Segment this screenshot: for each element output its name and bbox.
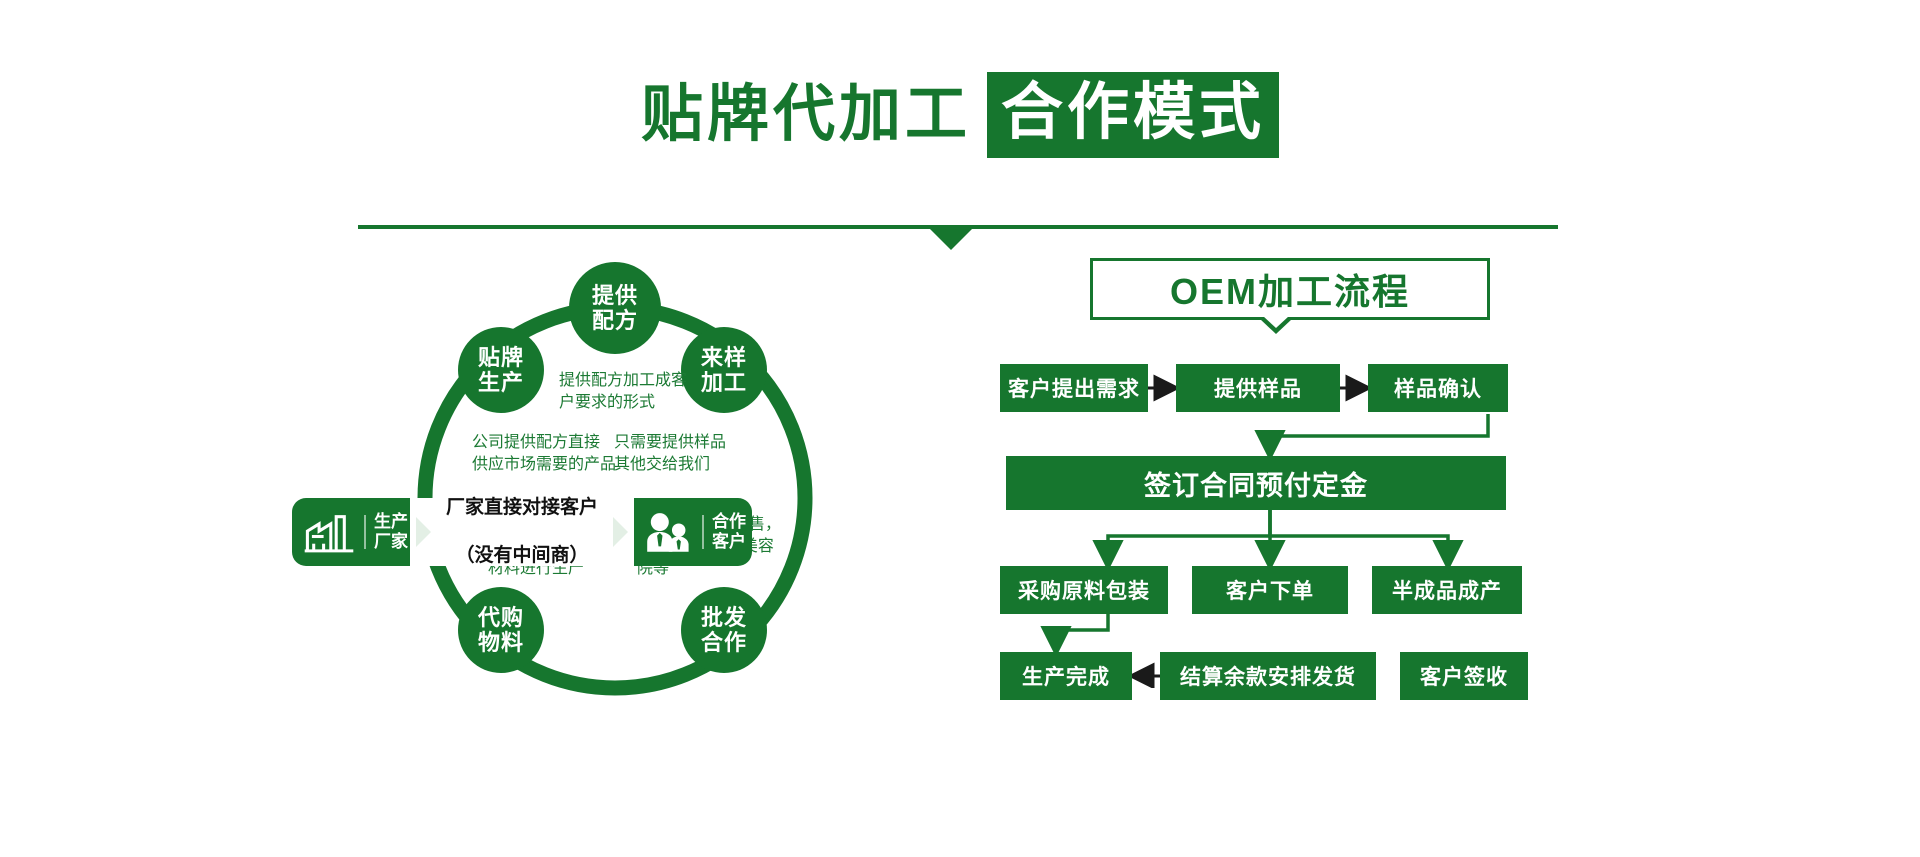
flow-box-semifinished-production[interactable]: 半成品成产 bbox=[1372, 566, 1522, 614]
node-lower-left-line2: 物料 bbox=[478, 630, 524, 655]
description-mid-right: 只需要提供样品 其他交给我们 bbox=[614, 432, 726, 476]
chevron-right-icon-left bbox=[416, 517, 431, 547]
flow-box-customer-request[interactable]: 客户提出需求 bbox=[1000, 364, 1148, 412]
manufacturer-label-line2: 厂家 bbox=[374, 532, 408, 552]
flow-box-purchase-materials[interactable]: 采购原料包装 bbox=[1000, 566, 1168, 614]
oem-flowchart: OEM加工流程 bbox=[980, 258, 1600, 688]
customers-icon bbox=[640, 509, 694, 555]
node-upper-right-line2: 加工 bbox=[701, 370, 747, 395]
page-title: 贴牌代加工合作模式 bbox=[0, 72, 1920, 158]
description-mid-left: 公司提供配方直接 供应市场需要的产品 bbox=[472, 432, 616, 476]
node-upper-left[interactable]: 贴牌 生产 bbox=[458, 327, 544, 413]
manufacturer-to-customer-bar: 生产 厂家 厂家直接对接客户 （没有中间商） bbox=[292, 498, 752, 566]
factory-icon bbox=[302, 509, 356, 555]
node-lower-left[interactable]: 代购 物料 bbox=[458, 587, 544, 673]
flow-box-customer-order[interactable]: 客户下单 bbox=[1192, 566, 1348, 614]
node-top[interactable]: 提供 配方 bbox=[569, 262, 661, 354]
customer-label-line2: 客户 bbox=[712, 532, 746, 552]
node-lower-left-line1: 代购 bbox=[478, 605, 524, 630]
node-lower-right[interactable]: 批发 合作 bbox=[681, 587, 767, 673]
direct-connection-message: 厂家直接对接客户 （没有中间商） bbox=[410, 498, 634, 566]
node-upper-right-line1: 来样 bbox=[701, 345, 747, 370]
direct-message-line2: （没有中间商） bbox=[446, 544, 598, 568]
flow-box-sign-contract-deposit[interactable]: 签订合同预付定金 bbox=[1006, 456, 1506, 510]
description-top-right: 提供配方加工成客 户要求的形式 bbox=[559, 370, 687, 414]
manufacturer-block[interactable]: 生产 厂家 bbox=[292, 498, 410, 566]
node-upper-left-line2: 生产 bbox=[478, 370, 524, 395]
direct-message-line1: 厂家直接对接客户 bbox=[446, 496, 598, 520]
divider-vertical-2 bbox=[702, 515, 704, 549]
node-lower-right-line2: 合作 bbox=[701, 630, 747, 655]
divider-down-triangle-icon bbox=[930, 229, 972, 250]
node-top-line2: 配方 bbox=[592, 308, 638, 333]
chevron-right-icon-right bbox=[613, 517, 628, 547]
customer-block[interactable]: 合作 客户 bbox=[634, 498, 752, 566]
node-upper-left-line1: 贴牌 bbox=[478, 345, 524, 370]
flow-box-production-complete[interactable]: 生产完成 bbox=[1000, 652, 1132, 700]
node-lower-right-line1: 批发 bbox=[701, 605, 747, 630]
title-boxed-text: 合作模式 bbox=[987, 72, 1279, 158]
poster-root: 贴牌代加工合作模式 贴牌 生产 提供 配方 来样 加工 bbox=[0, 0, 1920, 857]
flow-box-customer-receipt[interactable]: 客户签收 bbox=[1400, 652, 1528, 700]
manufacturer-label-line1: 生产 bbox=[374, 512, 408, 532]
flow-box-sample-confirm[interactable]: 样品确认 bbox=[1368, 364, 1508, 412]
divider-vertical bbox=[364, 515, 366, 549]
node-top-line1: 提供 bbox=[592, 283, 638, 308]
flow-box-settle-balance-ship[interactable]: 结算余款安排发货 bbox=[1160, 652, 1376, 700]
customer-label-line1: 合作 bbox=[712, 512, 746, 532]
title-main-text: 贴牌代加工 bbox=[641, 84, 971, 146]
node-upper-right[interactable]: 来样 加工 bbox=[681, 327, 767, 413]
flow-box-provide-sample[interactable]: 提供样品 bbox=[1176, 364, 1340, 412]
